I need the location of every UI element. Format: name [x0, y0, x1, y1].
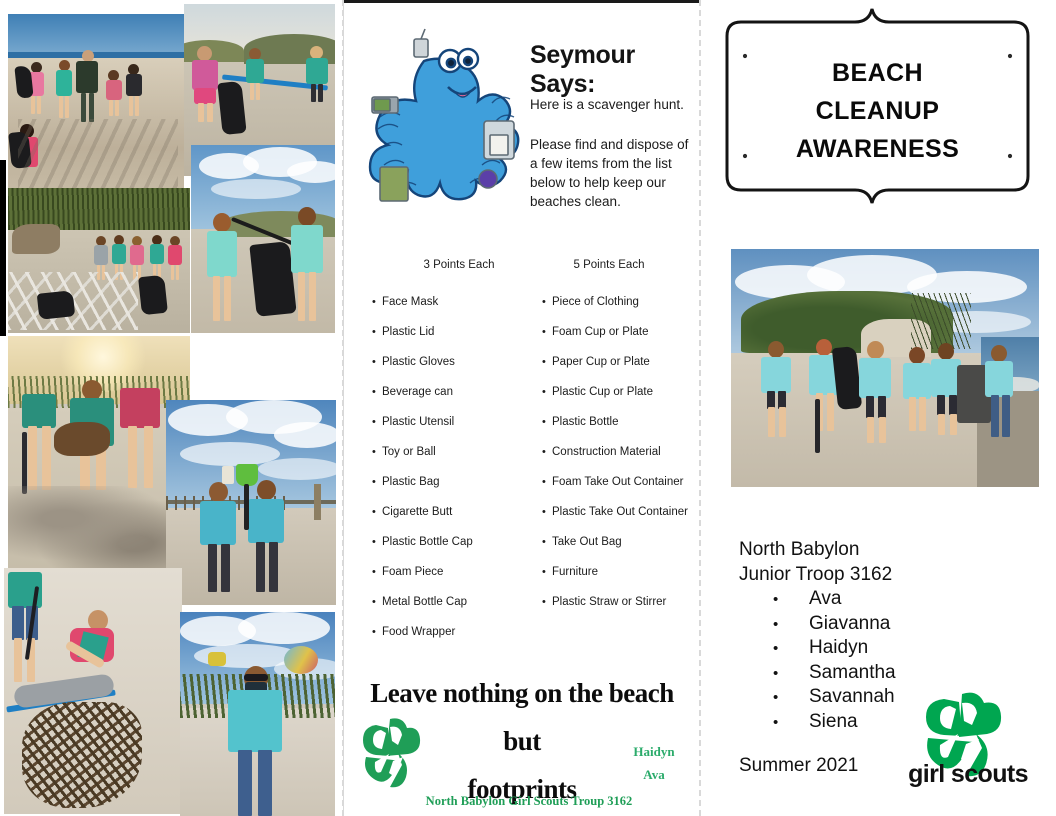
troop-line-2: Junior Troop 3162: [739, 563, 896, 588]
scavenger-item: Plastic Bag: [372, 475, 473, 489]
collage-photo-6: [166, 400, 336, 605]
collage-photo-5: [8, 336, 190, 568]
scavenger-item: Take Out Bag: [542, 535, 688, 549]
scavenger-item: Plastic Straw or Stirrer: [542, 595, 688, 609]
cover-title: BEACH CLEANUP AWARENESS: [705, 54, 1050, 168]
octopus-icon: [362, 25, 522, 233]
cover-title-line-2: CLEANUP: [705, 92, 1050, 130]
scavenger-item: Foam Piece: [372, 565, 473, 579]
scavenger-item: Foam Take Out Container: [542, 475, 688, 489]
roster-item: Ava: [773, 587, 896, 612]
collage-photo-1: [8, 14, 184, 210]
season-label: Summer 2021: [739, 755, 858, 777]
credit-name-2: Ava: [614, 763, 694, 786]
scavenger-item: Cigarette Butt: [372, 505, 473, 519]
scavenger-item: Plastic Gloves: [372, 355, 473, 369]
scavenger-list-5-points: Piece of ClothingFoam Cup or PlatePaper …: [542, 295, 688, 625]
cover-title-line-1: BEACH: [705, 54, 1050, 92]
scavenger-item: Plastic Take Out Container: [542, 505, 688, 519]
roster-item: Haidyn: [773, 636, 896, 661]
scavenger-item: Paper Cup or Plate: [542, 355, 688, 369]
collage-photo-8: [180, 612, 335, 816]
scavenger-item: Beverage can: [372, 385, 473, 399]
points-header-5: 5 Points Each: [534, 259, 684, 271]
points-header-3: 3 Points Each: [384, 259, 534, 271]
title-plaque: BEACH CLEANUP AWARENESS: [705, 6, 1050, 206]
scavenger-list-3-points: Face MaskPlastic LidPlastic GlovesBevera…: [372, 295, 473, 655]
troop-info: North Babylon Junior Troop 3162 AvaGiava…: [739, 538, 896, 734]
brochure-page: Seymour Says: Here is a scavenger hunt. …: [0, 0, 1056, 816]
scavenger-item: Metal Bottle Cap: [372, 595, 473, 609]
credit-name-1: Haidyn: [614, 740, 694, 763]
roster-item: Savannah: [773, 685, 896, 710]
roster-item: Siena: [773, 710, 896, 735]
scavenger-item: Plastic Bottle: [542, 415, 688, 429]
roster-item: Samantha: [773, 661, 896, 686]
scavenger-item: Toy or Ball: [372, 445, 473, 459]
scavenger-hunt-panel: Seymour Says: Here is a scavenger hunt. …: [343, 0, 699, 816]
troop-footer: North Babylon Girl Scouts Troup 3162: [404, 794, 654, 809]
girl-scouts-trefoil-icon: [360, 717, 422, 791]
collage-photo-4: [191, 145, 335, 333]
roster-item: Giavanna: [773, 612, 896, 637]
photo-collage-panel: [0, 0, 343, 816]
troop-line-1: North Babylon: [739, 538, 896, 563]
hero-group-photo: [731, 249, 1039, 487]
cover-title-line-3: AWARENESS: [705, 130, 1050, 168]
scavenger-item: Construction Material: [542, 445, 688, 459]
scavenger-intro-1: Here is a scavenger hunt.: [530, 95, 690, 114]
scavenger-item: Food Wrapper: [372, 625, 473, 639]
scavenger-item: Face Mask: [372, 295, 473, 309]
girl-scouts-wordmark: girl scouts: [898, 760, 1038, 789]
fold-line-left: [342, 0, 344, 816]
scan-artifact-bar: [0, 160, 6, 336]
scavenger-item: Plastic Utensil: [372, 415, 473, 429]
scavenger-item: Plastic Cup or Plate: [542, 385, 688, 399]
scavenger-item: Plastic Bottle Cap: [372, 535, 473, 549]
scavenger-item: Piece of Clothing: [542, 295, 688, 309]
member-roster: AvaGiavannaHaidynSamanthaSavannahSiena: [739, 587, 896, 734]
scavenger-intro-2: Please find and dispose of a few items f…: [530, 135, 690, 211]
seymour-heading: Seymour Says:: [530, 41, 699, 99]
credit-names: Haidyn Ava: [614, 740, 694, 786]
scavenger-item: Plastic Lid: [372, 325, 473, 339]
scavenger-item: Furniture: [542, 565, 688, 579]
scavenger-item: Foam Cup or Plate: [542, 325, 688, 339]
collage-photo-7: [4, 568, 182, 814]
collage-photo-3: [8, 188, 190, 333]
